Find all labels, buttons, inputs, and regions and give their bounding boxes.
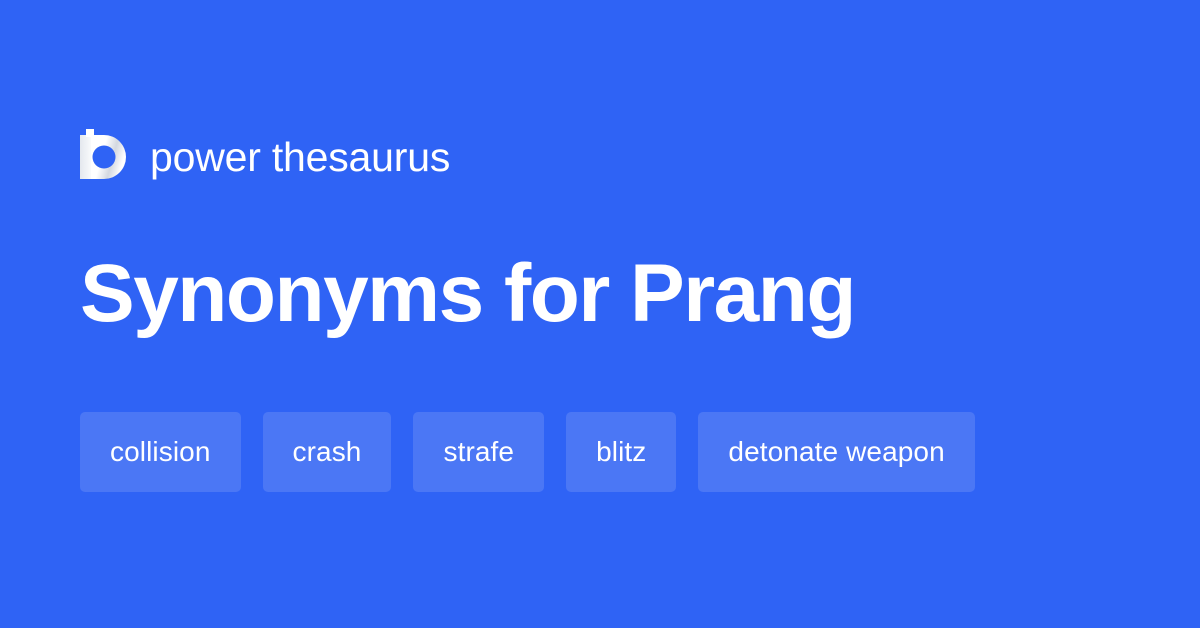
brand-lockup[interactable]: power thesaurus	[80, 126, 450, 188]
synonym-chip-list: collision crash strafe blitz detonate we…	[80, 412, 1140, 492]
page-title: Synonyms for Prang	[80, 246, 1120, 342]
power-thesaurus-logo-icon	[80, 129, 126, 185]
share-card: power thesaurus Synonyms for Prang colli…	[0, 0, 1200, 628]
brand-name: power thesaurus	[150, 137, 450, 178]
synonym-chip[interactable]: strafe	[413, 412, 544, 492]
synonym-chip[interactable]: crash	[263, 412, 392, 492]
synonym-chip[interactable]: collision	[80, 412, 241, 492]
synonym-chip[interactable]: blitz	[566, 412, 676, 492]
synonym-chip[interactable]: detonate weapon	[698, 412, 974, 492]
